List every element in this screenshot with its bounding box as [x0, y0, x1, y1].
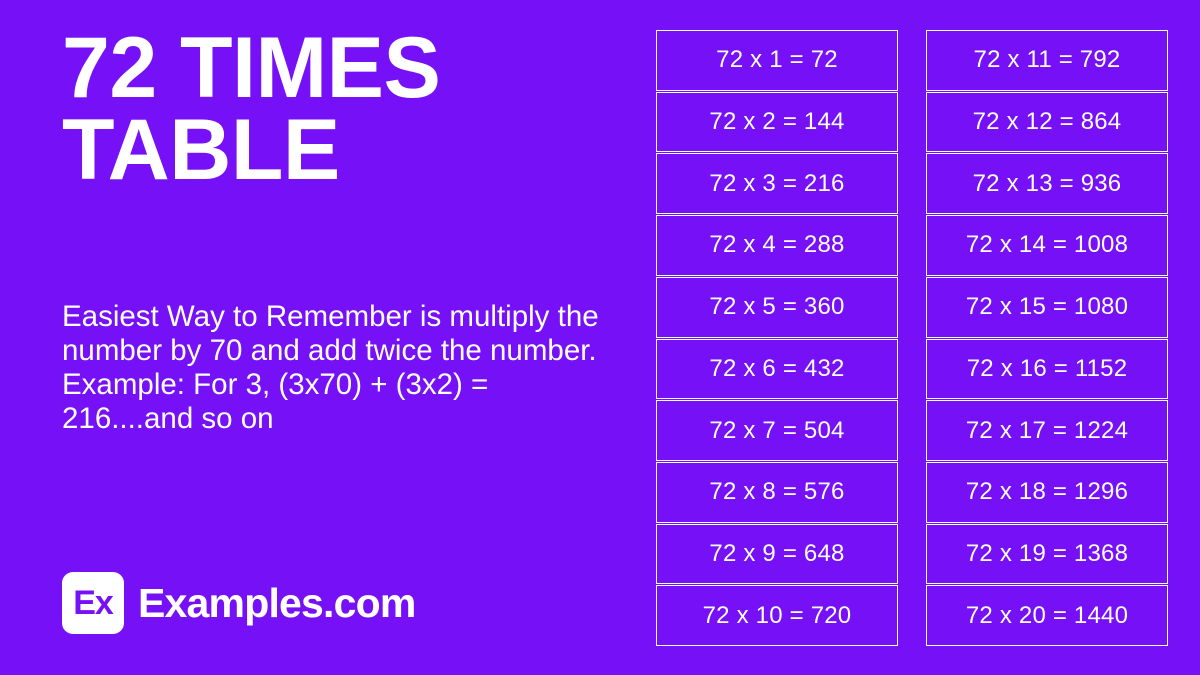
table-row: 72 x 13 = 936 — [926, 153, 1168, 214]
left-panel: 72 TIMES TABLE Easiest Way to Remember i… — [0, 0, 640, 675]
examples-logo-icon: Ex — [62, 572, 124, 634]
logo-mark-label: Ex — [73, 586, 113, 620]
table-row: 72 x 14 = 1008 — [926, 215, 1168, 276]
times-table-column-1: 72 x 1 = 7272 x 2 = 14472 x 3 = 21672 x … — [656, 30, 898, 646]
table-row: 72 x 1 = 72 — [656, 30, 898, 91]
table-row: 72 x 20 = 1440 — [926, 585, 1168, 646]
table-row: 72 x 7 = 504 — [656, 400, 898, 461]
table-row: 72 x 6 = 432 — [656, 339, 898, 400]
table-row: 72 x 8 = 576 — [656, 462, 898, 523]
table-row: 72 x 17 = 1224 — [926, 400, 1168, 461]
table-row: 72 x 19 = 1368 — [926, 524, 1168, 585]
table-row: 72 x 2 = 144 — [656, 92, 898, 153]
table-row: 72 x 5 = 360 — [656, 277, 898, 338]
table-row: 72 x 12 = 864 — [926, 92, 1168, 153]
poster-root: 72 TIMES TABLE Easiest Way to Remember i… — [0, 0, 1200, 675]
times-table-column-2: 72 x 11 = 79272 x 12 = 86472 x 13 = 9367… — [926, 30, 1168, 646]
logo-wordmark: Examples.com — [138, 583, 416, 624]
table-row: 72 x 16 = 1152 — [926, 339, 1168, 400]
table-row: 72 x 3 = 216 — [656, 153, 898, 214]
table-row: 72 x 10 = 720 — [656, 585, 898, 646]
table-row: 72 x 18 = 1296 — [926, 462, 1168, 523]
table-row: 72 x 9 = 648 — [656, 524, 898, 585]
table-row: 72 x 4 = 288 — [656, 215, 898, 276]
brand-logo[interactable]: Ex Examples.com — [62, 572, 416, 634]
table-row: 72 x 15 = 1080 — [926, 277, 1168, 338]
table-row: 72 x 11 = 792 — [926, 30, 1168, 91]
times-table: 72 x 1 = 7272 x 2 = 14472 x 3 = 21672 x … — [656, 30, 1168, 646]
page-title: 72 TIMES TABLE — [62, 28, 602, 191]
description-text: Easiest Way to Remember is multiply the … — [62, 300, 627, 436]
